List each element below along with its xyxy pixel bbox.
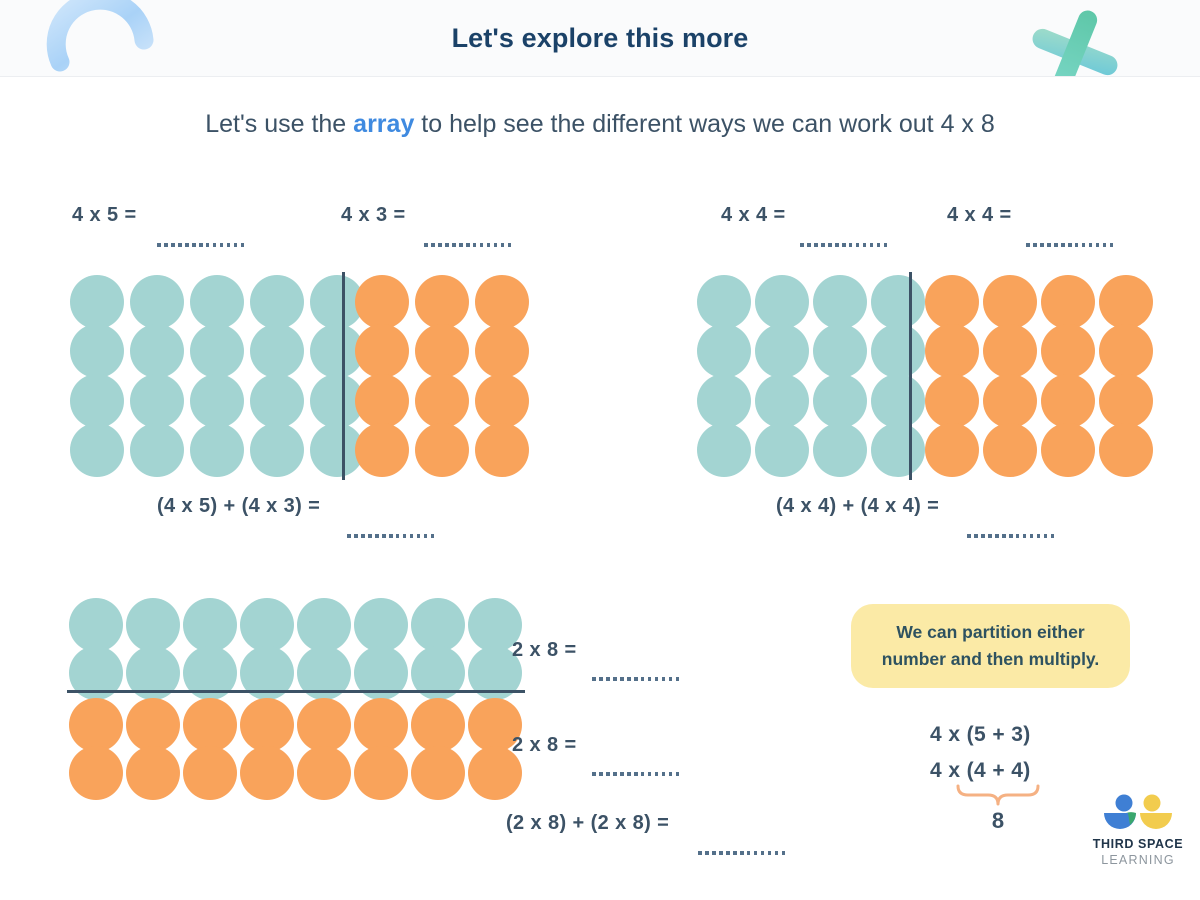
array-dot [355, 374, 409, 428]
subtitle: Let's use the array to help see the diff… [0, 110, 1200, 139]
array-dot [871, 324, 925, 378]
array-dot [297, 746, 351, 800]
array-dot [697, 324, 751, 378]
callout-partition-tip: We can partition either number and then … [851, 604, 1130, 688]
array-dot [355, 275, 409, 329]
third-space-learning-logo: THIRD SPACE LEARNING [1086, 793, 1190, 871]
array-dot [925, 423, 979, 477]
array-dot [354, 698, 408, 752]
array-dot [355, 324, 409, 378]
array-dot [697, 374, 751, 428]
array-dot [1099, 374, 1153, 428]
array-dot [983, 374, 1037, 428]
array-dot [183, 698, 237, 752]
subtitle-before: Let's use the [205, 110, 353, 138]
array-divider-horizontal [67, 690, 525, 693]
array-dot [69, 746, 123, 800]
answer-dots-top-left-first[interactable] [157, 240, 244, 250]
array-dot [755, 275, 809, 329]
array-dot [813, 423, 867, 477]
array-dot [70, 423, 124, 477]
callout-line-2: number and then multiply. [882, 649, 1099, 671]
array-dot [475, 374, 529, 428]
array-dot [983, 275, 1037, 329]
array-dot [415, 275, 469, 329]
array-dot [69, 698, 123, 752]
label-top-left-second: 4 x 3 = [341, 204, 406, 227]
array-dot [755, 324, 809, 378]
answer-dots-sum-top-right[interactable] [967, 531, 1054, 541]
array-top-right [697, 275, 1127, 470]
array-dot [475, 324, 529, 378]
array-dot [871, 423, 925, 477]
array-dot [871, 374, 925, 428]
array-dot [415, 423, 469, 477]
curly-brace-icon [955, 784, 1041, 806]
array-dot [925, 275, 979, 329]
callout-line-1: We can partition either [896, 622, 1084, 644]
subtitle-after: to help see the different ways we can wo… [414, 110, 994, 138]
array-dot [475, 423, 529, 477]
array-dot [70, 275, 124, 329]
array-dot [126, 598, 180, 652]
array-dot [1041, 324, 1095, 378]
array-dot [1099, 423, 1153, 477]
array-dot [70, 324, 124, 378]
array-dot [190, 374, 244, 428]
array-dot [250, 275, 304, 329]
array-dot [983, 423, 1037, 477]
array-dot [250, 324, 304, 378]
sum-label-top-right: (4 x 4) + (4 x 4) = [776, 495, 939, 518]
array-dot [69, 598, 123, 652]
array-dot [813, 275, 867, 329]
array-dot [240, 746, 294, 800]
array-dot [130, 423, 184, 477]
array-dot [983, 324, 1037, 378]
array-dot [130, 374, 184, 428]
array-dot [130, 275, 184, 329]
array-dot [411, 698, 465, 752]
array-dot [1041, 423, 1095, 477]
array-dot [250, 423, 304, 477]
array-dot [411, 598, 465, 652]
logo-text-secondary: LEARNING [1086, 853, 1190, 867]
array-dot [755, 423, 809, 477]
answer-dots-top-right-second[interactable] [1026, 240, 1113, 250]
answer-dots-sum-top-left[interactable] [347, 531, 434, 541]
array-dot [925, 324, 979, 378]
array-dot [415, 374, 469, 428]
page-title: Let's explore this more [0, 0, 1200, 76]
array-dot [190, 324, 244, 378]
array-dot [475, 275, 529, 329]
array-dot [1099, 324, 1153, 378]
array-dot [697, 423, 751, 477]
array-dot [354, 598, 408, 652]
array-dot [126, 698, 180, 752]
array-dot [183, 598, 237, 652]
label-top-right-second: 4 x 4 = [947, 204, 1012, 227]
partition-expression-1: 4 x (5 + 3) [930, 723, 1031, 747]
array-dot [813, 324, 867, 378]
array-bottom-left [69, 598, 509, 798]
array-dot [871, 275, 925, 329]
header-bar: Let's explore this more [0, 0, 1200, 77]
array-dot [411, 746, 465, 800]
array-dot [813, 374, 867, 428]
array-divider-vertical [909, 272, 912, 480]
array-dot [240, 698, 294, 752]
array-dot [183, 746, 237, 800]
label-top-left-first: 4 x 5 = [72, 204, 137, 227]
array-dot [925, 374, 979, 428]
array-dot [297, 598, 351, 652]
array-dot [126, 746, 180, 800]
array-dot [354, 746, 408, 800]
array-dot [297, 698, 351, 752]
array-dot [130, 324, 184, 378]
array-dot [355, 423, 409, 477]
logo-mark-icon [1100, 793, 1176, 835]
array-dot [697, 275, 751, 329]
answer-dots-sum-bottom[interactable] [698, 848, 785, 858]
answer-dots-top-left-second[interactable] [424, 240, 511, 250]
array-dot [190, 423, 244, 477]
array-divider-vertical [342, 272, 345, 480]
logo-text-primary: THIRD SPACE [1086, 837, 1190, 851]
answer-dots-top-right-first[interactable] [800, 240, 887, 250]
array-dot [1041, 275, 1095, 329]
sum-label-bottom: (2 x 8) + (2 x 8) = [506, 812, 669, 835]
label-bottom-top-half: 2 x 8 = [512, 639, 577, 662]
answer-dots-bottom-top-half[interactable] [592, 674, 679, 684]
array-dot [1041, 374, 1095, 428]
brace-answer-value: 8 [955, 808, 1041, 834]
sum-label-top-left: (4 x 5) + (4 x 3) = [157, 495, 320, 518]
array-dot [190, 275, 244, 329]
label-top-right-first: 4 x 4 = [721, 204, 786, 227]
array-dot [755, 374, 809, 428]
array-dot [1099, 275, 1153, 329]
array-dot [70, 374, 124, 428]
array-dot [250, 374, 304, 428]
array-dot [240, 598, 294, 652]
array-top-left [70, 275, 510, 470]
answer-dots-bottom-bottom-half[interactable] [592, 769, 679, 779]
array-dot [415, 324, 469, 378]
subtitle-highlight-array: array [353, 110, 414, 138]
partition-expression-2: 4 x (4 + 4) [930, 759, 1031, 783]
label-bottom-bottom-half: 2 x 8 = [512, 734, 577, 757]
